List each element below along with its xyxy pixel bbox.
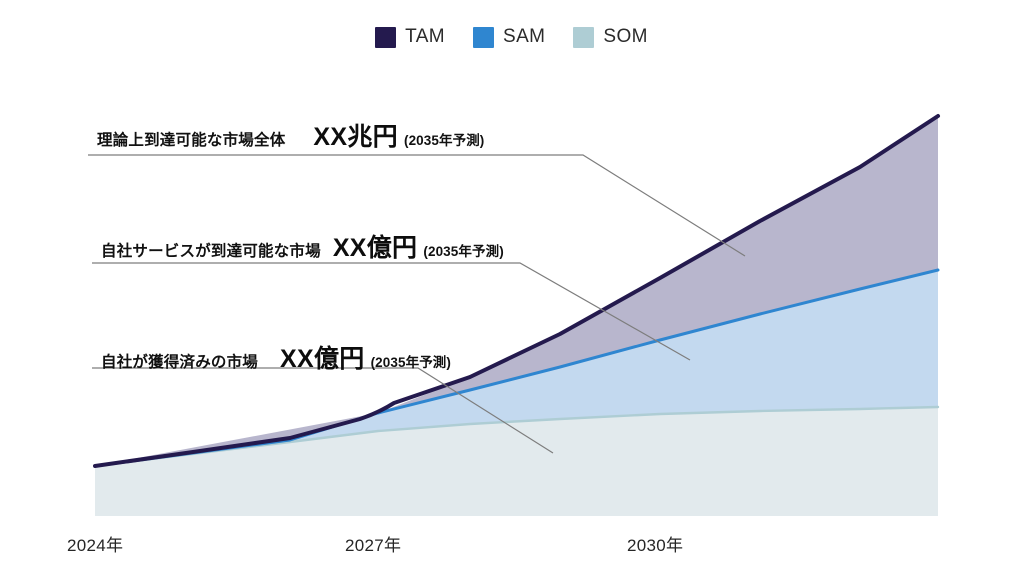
- annotation-som-note: (2035年予測): [371, 351, 451, 371]
- axis-tick-label-2027: 2027年: [345, 531, 401, 556]
- annotation-sam-note: (2035年予測): [423, 240, 503, 260]
- tam-sam-som-area-chart: [0, 0, 1023, 572]
- axis-tick-label-2030: 2030年: [627, 531, 683, 556]
- annotation-sam: 自社サービスが到達可能な市場 XX億円 (2035年予測): [101, 228, 504, 264]
- som-area-fill: [95, 407, 938, 516]
- annotation-tam-value: XX兆円: [313, 117, 398, 153]
- annotation-sam-value: XX億円: [333, 228, 418, 264]
- annotation-som: 自社が獲得済みの市場 XX億円 (2035年予測): [101, 339, 451, 375]
- annotation-tam: 理論上到達可能な市場全体 XX兆円 (2035年予測): [97, 117, 484, 153]
- slide-canvas: TAM SAM SOM 理論上到達可能な市場全体 XX兆円 (2035年予測) …: [0, 0, 1023, 572]
- annotation-som-description: 自社が獲得済みの市場: [101, 350, 258, 372]
- annotation-tam-description: 理論上到達可能な市場全体: [97, 128, 285, 150]
- axis-tick-label-2024: 2024年: [67, 531, 123, 556]
- annotation-som-value: XX億円: [280, 339, 365, 375]
- annotation-tam-note: (2035年予測): [404, 129, 484, 149]
- annotation-sam-description: 自社サービスが到達可能な市場: [101, 239, 321, 261]
